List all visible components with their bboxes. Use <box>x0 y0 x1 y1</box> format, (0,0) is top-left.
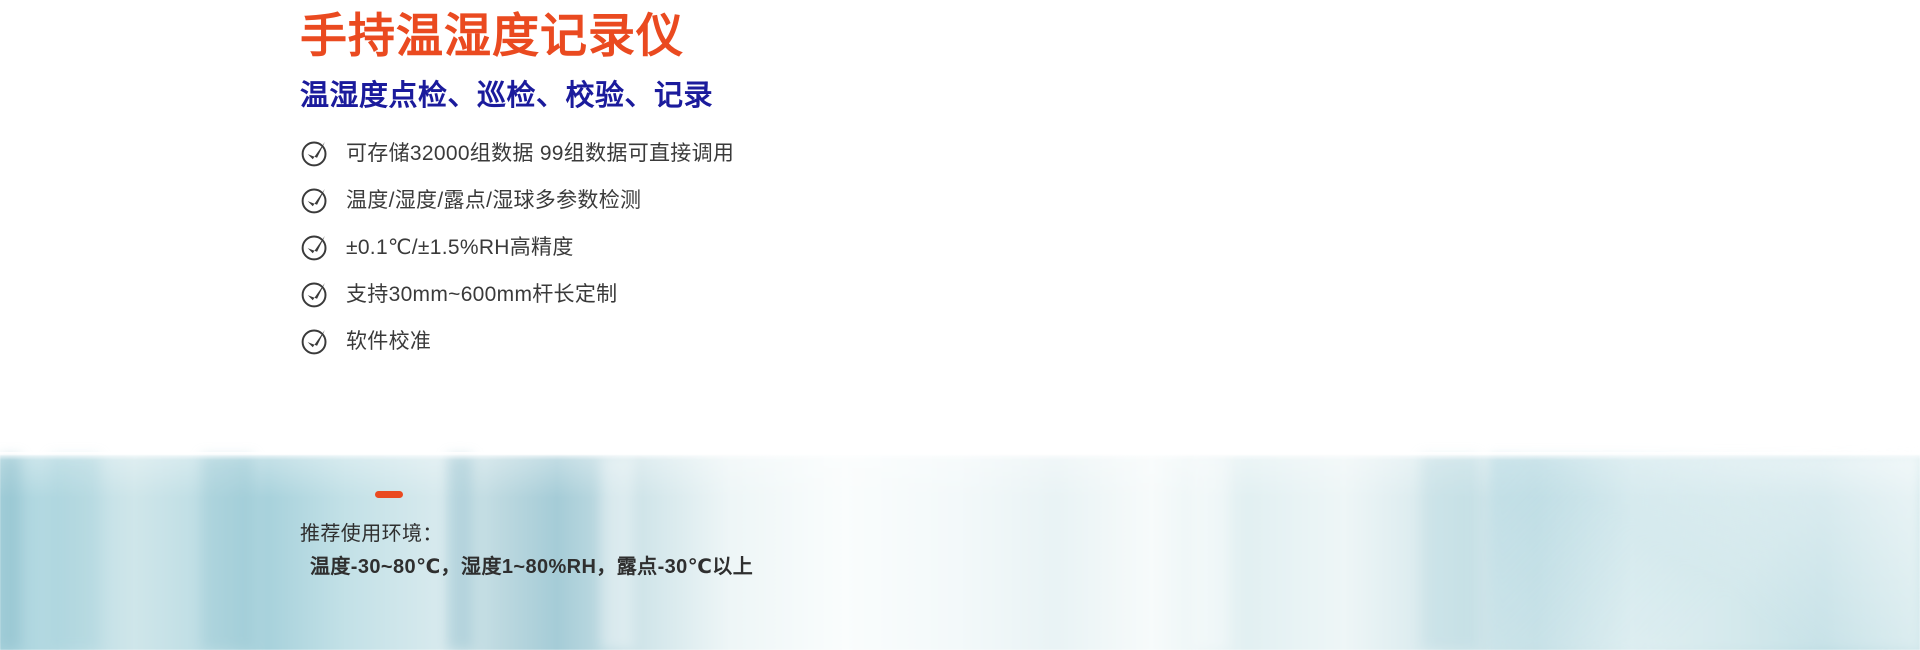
list-item-label: 支持30mm~600mm杆长定制 <box>346 284 617 305</box>
copy-block: 手持温湿度记录仪 温湿度点检、巡检、校验、记录 可存储32000组数据 99组数… <box>0 0 980 650</box>
list-item: 软件校准 <box>300 318 960 364</box>
circle-check-icon <box>300 138 330 168</box>
product-banner: 手持温湿度记录仪 温湿度点检、巡检、校验、记录 可存储32000组数据 99组数… <box>0 0 1920 650</box>
list-item-label: 温度/湿度/露点/湿球多参数检测 <box>346 190 641 211</box>
list-item: 可存储32000组数据 99组数据可直接调用 <box>300 130 960 176</box>
accent-dash <box>375 491 403 498</box>
page-title: 手持温湿度记录仪 <box>300 8 684 63</box>
usage-note-title: 推荐使用环境： <box>300 518 940 550</box>
list-item: 温度/湿度/露点/湿球多参数检测 <box>300 177 960 223</box>
circle-check-icon <box>300 185 330 215</box>
product-image-area: 可拆换探头 <box>960 0 1920 650</box>
feature-list: 可存储32000组数据 99组数据可直接调用 温度/湿度/露点/湿球多参数检测 <box>300 130 960 365</box>
list-item-label: 软件校准 <box>346 331 431 352</box>
circle-check-icon <box>300 232 330 262</box>
circle-check-icon <box>300 326 330 356</box>
usage-note: 推荐使用环境： 温度-30~80℃，湿度1~80%RH，露点-30℃以上 <box>300 518 940 584</box>
circle-check-icon <box>300 279 330 309</box>
list-item: ±0.1℃/±1.5%RH高精度 <box>300 224 960 270</box>
usage-note-body: 温度-30~80℃，湿度1~80%RH，露点-30℃以上 <box>310 550 940 584</box>
list-item-label: 可存储32000组数据 99组数据可直接调用 <box>346 143 734 164</box>
list-item: 支持30mm~600mm杆长定制 <box>300 271 960 317</box>
page-subtitle: 温湿度点检、巡检、校验、记录 <box>300 78 713 114</box>
list-item-label: ±0.1℃/±1.5%RH高精度 <box>346 237 574 258</box>
